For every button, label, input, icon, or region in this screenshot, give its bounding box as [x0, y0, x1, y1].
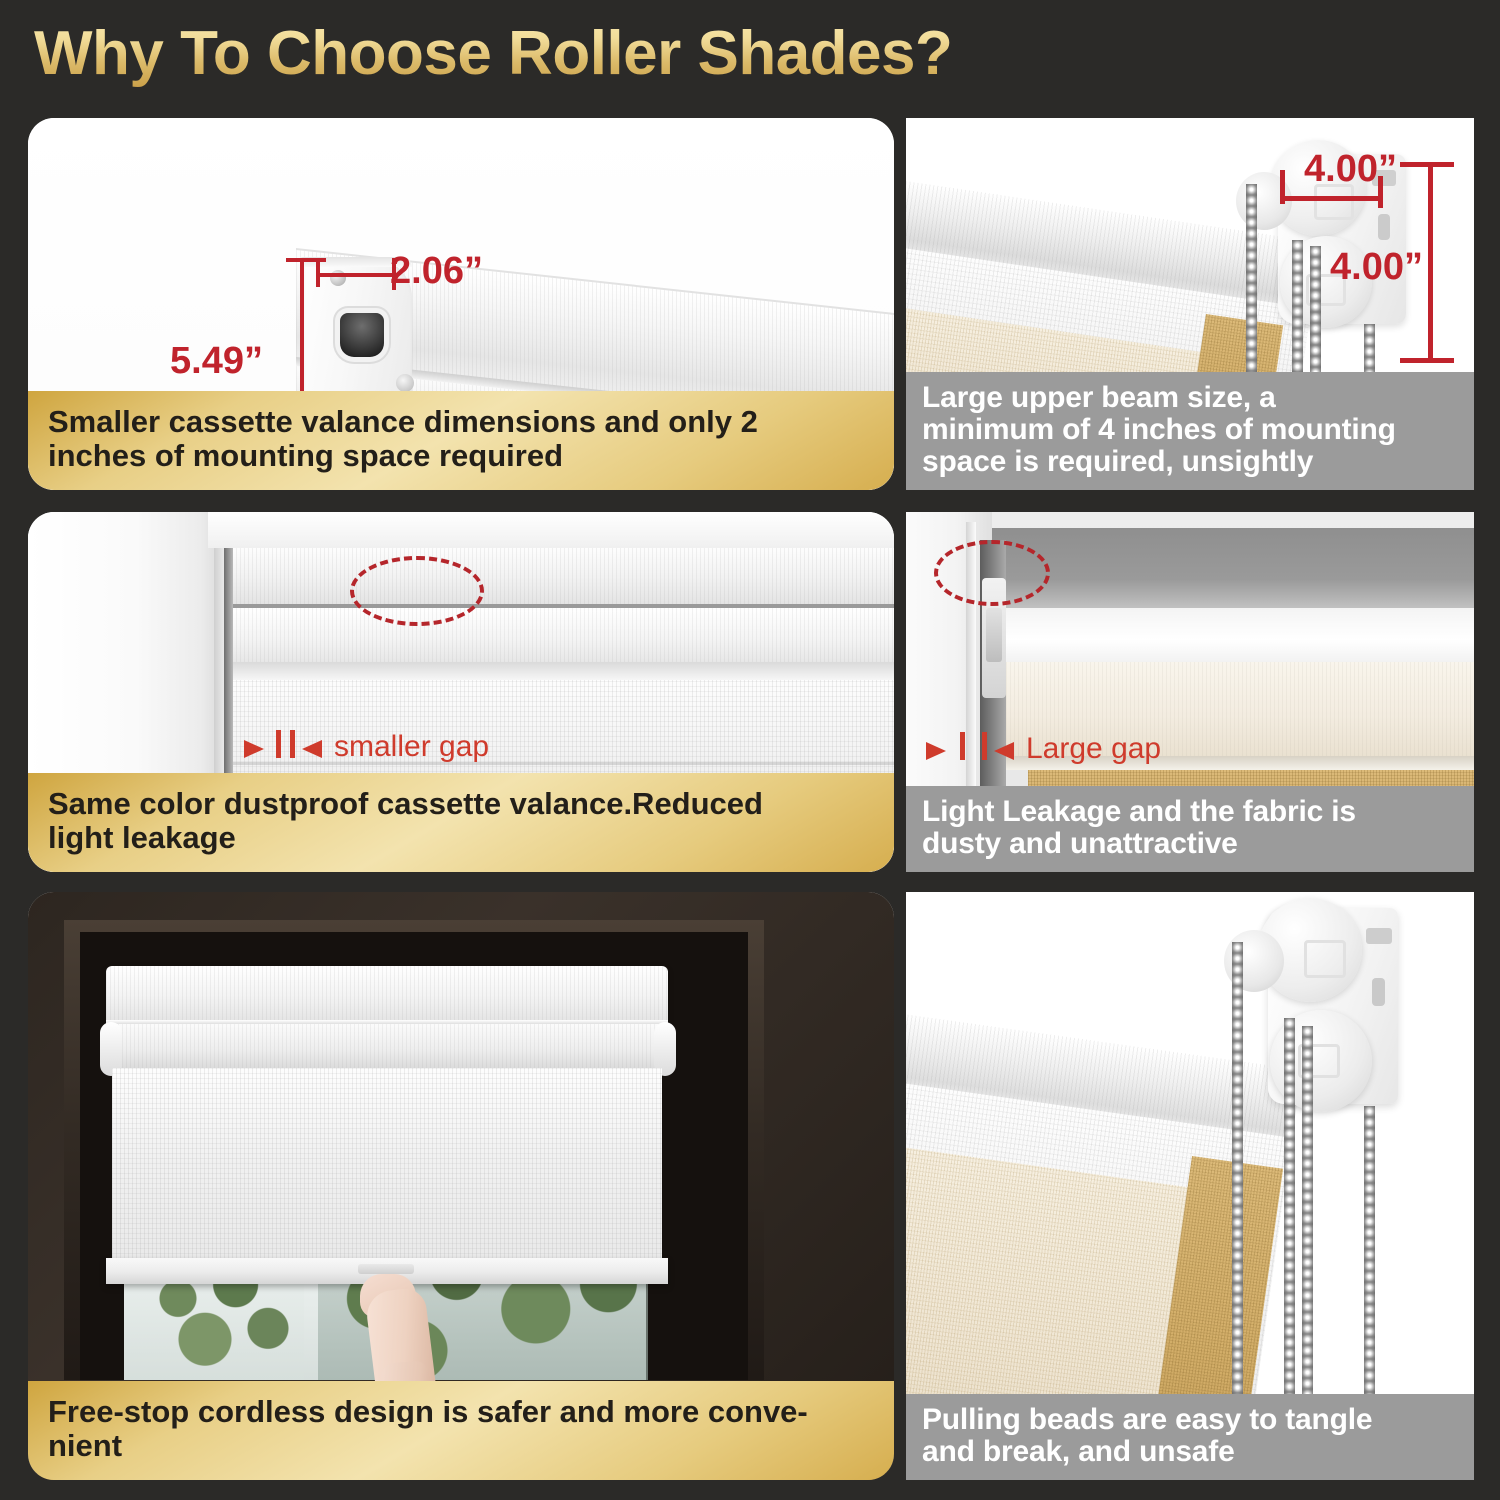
gap-label-smaller: smaller gap — [334, 730, 489, 764]
height-dimension-tick-top — [286, 258, 326, 262]
highlight-ellipse — [350, 556, 484, 626]
gap-arrow-left — [926, 742, 946, 760]
gap-bar-left — [960, 732, 965, 760]
caption-line-2: and break, and unsafe — [922, 1436, 1458, 1468]
gap-arrow-right — [994, 742, 1014, 760]
width-dimension-line — [316, 273, 396, 277]
caption-free-stop-cordless: Free-stop cordless design is safer and m… — [28, 1381, 894, 1480]
gap-bar-right — [290, 730, 295, 758]
caption-cassette-dimensions: Smaller cassette valance dimensions and … — [28, 391, 894, 490]
panel-dustproof-cassette: smaller gap Same color dustproof cassett… — [28, 512, 894, 872]
caption-line-2: inches of mounting space required — [48, 439, 874, 474]
caption-line-1: Pulling beads are easy to tangle — [922, 1403, 1372, 1436]
beam-height-tick-top — [1400, 162, 1454, 167]
caption-line-1: Light Leakage and the fabric is — [922, 795, 1356, 828]
width-dimension-label: 2.06” — [390, 250, 483, 293]
panel-light-leakage: Large gap Light Leakage and the fabric i… — [906, 512, 1474, 872]
beam-width-dimension-line — [1282, 196, 1382, 201]
caption-line-2: nient — [48, 1429, 874, 1464]
beam-width-tick-left — [1280, 170, 1285, 204]
gap-bar-left — [276, 730, 281, 758]
caption-line-2: minimum of 4 inches of mounting — [922, 414, 1458, 446]
beam-height-dimension-line — [1428, 162, 1433, 362]
caption-line-3: space is required, unsightly — [922, 446, 1458, 478]
photo-bead-chains — [906, 892, 1474, 1480]
height-dimension-label: 5.49” — [170, 340, 263, 383]
beam-width-label: 4.00” — [1304, 148, 1397, 191]
caption-line-2: light leakage — [48, 821, 874, 856]
panel-cassette-dimensions: 2.06” 5.49” Smaller cassette valance dim… — [28, 118, 894, 490]
gap-bar-right — [982, 732, 987, 760]
panel-pulling-beads: Pulling beads are easy to tangle and bre… — [906, 892, 1474, 1480]
infographic-page: Why To Choose Roller Shades? — [0, 0, 1500, 1500]
panel-free-stop-cordless: Free-stop cordless design is safer and m… — [28, 892, 894, 1480]
highlight-ellipse — [934, 540, 1050, 606]
caption-large-upper-beam: Large upper beam size, a minimum of 4 in… — [906, 372, 1474, 490]
width-dimension-tick-left — [316, 261, 320, 287]
caption-line-1: Free-stop cordless design is safer and m… — [48, 1394, 808, 1429]
caption-pulling-beads: Pulling beads are easy to tangle and bre… — [906, 1394, 1474, 1480]
beam-height-tick-bottom — [1400, 358, 1454, 363]
gap-arrow-left — [244, 740, 264, 758]
beam-height-label: 4.00” — [1330, 246, 1423, 289]
caption-dustproof-cassette: Same color dustproof cassette valance.Re… — [28, 773, 894, 872]
page-title: Why To Choose Roller Shades? — [34, 18, 952, 89]
gap-label-large: Large gap — [1026, 732, 1161, 766]
caption-light-leakage: Light Leakage and the fabric is dusty an… — [906, 786, 1474, 872]
gap-arrow-right — [302, 740, 322, 758]
caption-line-1: Same color dustproof cassette valance.Re… — [48, 786, 763, 821]
caption-line-1: Smaller cassette valance dimensions and … — [48, 404, 758, 439]
caption-line-2: dusty and unattractive — [922, 828, 1458, 860]
panel-large-upper-beam: 4.00” 4.00” Large upper beam size, a min… — [906, 118, 1474, 490]
caption-line-1: Large upper beam size, a — [922, 381, 1276, 414]
